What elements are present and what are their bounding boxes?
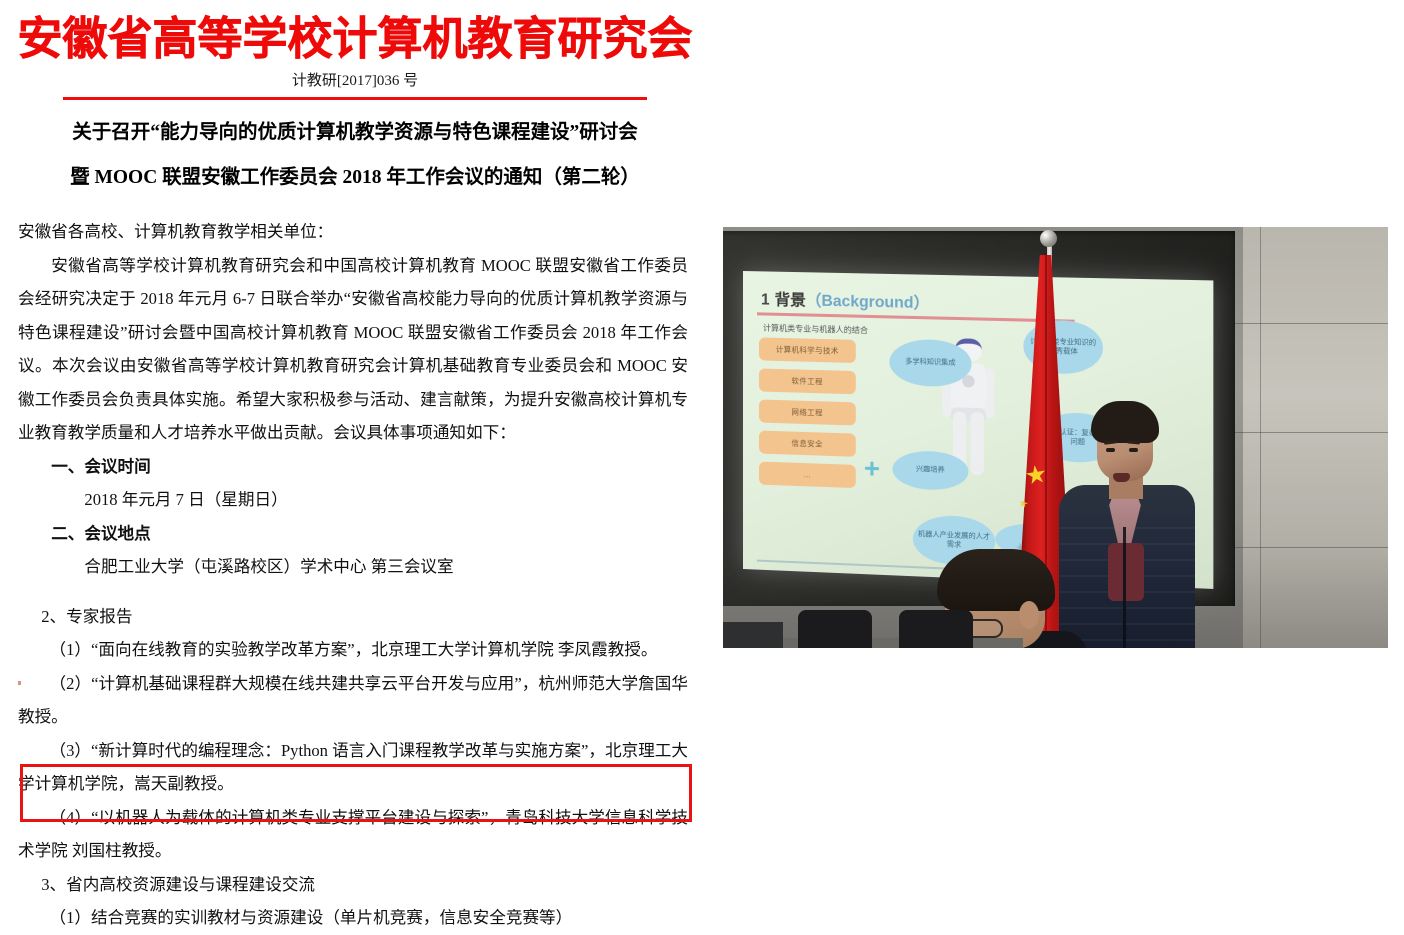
major-box: 网络工程 [759, 399, 856, 425]
header-red-rule [63, 97, 647, 100]
report-item-2: （2）“计算机基础课程群大规模在线共建共享云平台开发与应用”，杭州师范大学詹国华… [18, 667, 688, 734]
robot-arm-right [985, 367, 994, 418]
robot-leg-right [971, 412, 984, 476]
subsection-heading-2: 2、专家报告 [18, 600, 688, 634]
major-box: 软件工程 [759, 368, 856, 394]
document-number: 计教研[2017]036 号 [0, 72, 710, 90]
attendee-ear [1019, 601, 1039, 629]
major-box: 计算机科学与技术 [759, 337, 856, 363]
slide-title-cn: 背景 [775, 292, 806, 310]
subject-line-1: 关于召开“能力导向的优质计算机教学资源与特色课程建设”研讨会 [72, 122, 638, 143]
wall-vertical-seam [1260, 227, 1261, 648]
report-item-4-highlighted: （4）“以机器人为载体的计算机类专业支撑平台建设与探索”，青岛科技大学信息科学技… [18, 801, 688, 868]
conference-presentation-photo: 1背景（Background） 计算机类专业与机器人的结合 计算机科学与技术 软… [723, 227, 1388, 648]
slide-title-rule [757, 312, 1075, 322]
speaker-eye-left [1106, 448, 1115, 452]
slide-subtitle: 计算机类专业与机器人的结合 [763, 322, 868, 336]
slide-title-number: 1 [761, 291, 770, 308]
table-edge [723, 622, 783, 648]
attendee-hair [937, 549, 1055, 611]
speaker-hair [1091, 401, 1159, 443]
slide-title: 1背景（Background） [761, 287, 929, 313]
section-heading-2: 二、会议地点 [18, 517, 688, 551]
salutation: 安徽省各高校、计算机教育教学相关单位： [18, 215, 688, 249]
speaker-mouth [1113, 473, 1130, 482]
report-item-1: （1）“面向在线教育的实验教学改革方案”，北京理工大学计算机学院 李凤霞教授。 [18, 633, 688, 667]
plus-sign: + [864, 455, 880, 483]
speaker-sweater [1108, 543, 1144, 601]
intro-paragraph: 安徽省高等学校计算机教育研究会和中国高校计算机教育 MOOC 联盟安徽省工作委员… [18, 249, 688, 450]
scan-speck [18, 681, 21, 685]
spacer [18, 584, 688, 600]
notice-subject: 关于召开“能力导向的优质计算机教学资源与特色课程建设”研讨会 暨 MOOC 联盟… [0, 122, 710, 189]
section-body-1: 2018 年元月 7 日（星期日） [18, 483, 688, 517]
section-heading-1: 一、会议时间 [18, 450, 688, 484]
wall-right-panel [1243, 227, 1388, 648]
subsection-3-item-1: （1）结合竞赛的实训教材与资源建设（单片机竞赛，信息安全竞赛等） [18, 901, 688, 935]
organization-title: 安徽省高等学校计算机教育研究会 [0, 0, 710, 64]
major-box: ... [759, 462, 856, 489]
subject-line-2: 暨 MOOC 联盟安徽工作委员会 2018 年工作会议的通知（第二轮） [0, 167, 710, 189]
conference-chair [798, 610, 872, 648]
conference-chair [899, 610, 973, 648]
notice-document: 安徽省高等学校计算机教育研究会 计教研[2017]036 号 关于召开“能力导向… [0, 0, 710, 926]
section-body-2: 合肥工业大学（屯溪路校区）学术中心 第三会议室 [18, 550, 688, 584]
report-item-3: （3）“新计算时代的编程理念：Python 语言入门课程教学改革与实施方案”，北… [18, 734, 688, 801]
document-body: 安徽省各高校、计算机教育教学相关单位： 安徽省高等学校计算机教育研究会和中国高校… [0, 215, 710, 935]
slide-title-en: （Background） [806, 292, 930, 312]
speaker-jacket-zipper [1123, 527, 1126, 648]
subsection-heading-3: 3、省内高校资源建设与课程建设交流 [18, 868, 688, 902]
slide-major-list: 计算机科学与技术 软件工程 网络工程 信息安全 ... [759, 337, 856, 496]
flag-pole-finial [1040, 230, 1057, 247]
speaker-eye-right [1129, 448, 1138, 452]
major-box: 信息安全 [759, 431, 856, 457]
